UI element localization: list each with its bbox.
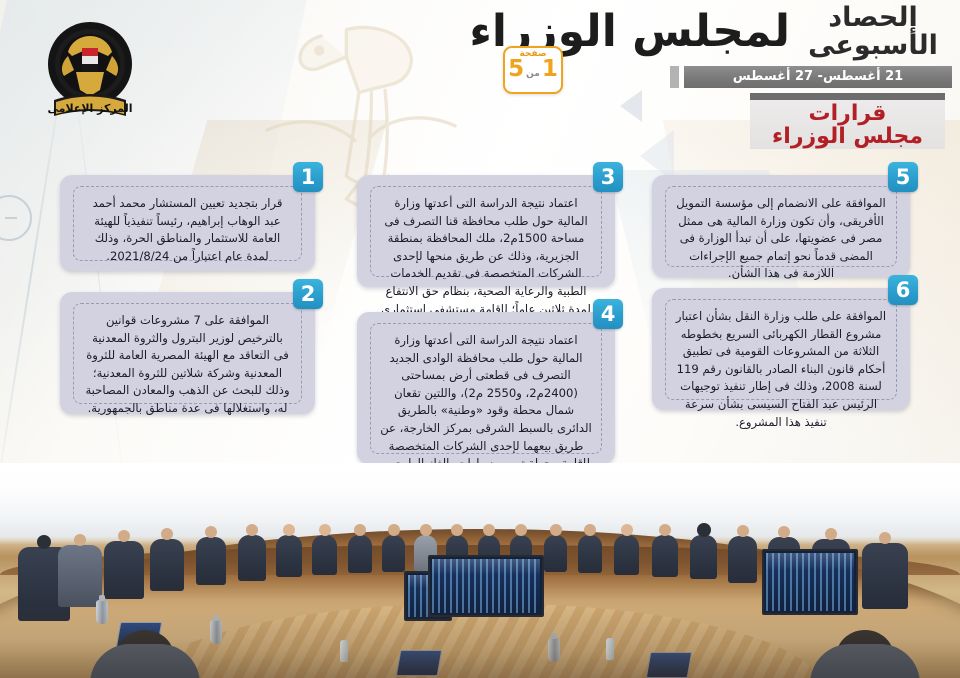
page-number-badge: صفحة 1 من 5 [503,46,563,94]
card-inner-frame: الموافقة على طلب وزارة النقل بشأن اعتبار… [665,299,897,400]
infographic-page: المركز الإعلامى لمجلس الوزراء صفحة 1 من … [0,0,960,678]
attendee [544,535,567,572]
decision-card: 4 اعتماد نتيجة الدراسة التى أعدتها وزارة… [357,312,615,464]
card-number-badge: 2 [293,279,323,309]
presentation-monitor [762,549,858,615]
attendee [196,537,226,585]
card-number-badge: 5 [888,162,918,192]
card-inner-frame: الموافقة على الانضمام إلى مؤسسة التمويل … [665,186,897,267]
attendee [690,535,717,579]
decision-card: 1 قرار بتجديد تعيين المستشار محمد أحمد ع… [60,175,315,271]
attendee [312,535,337,575]
card-text: قرار بتجديد تعيين المستشار محمد أحمد عبد… [83,195,292,265]
page-badge-total: 5 [508,58,524,81]
attendee [276,535,302,577]
attendee [652,535,678,577]
decision-card: 5 الموافقة على الانضمام إلى مؤسسة التموي… [652,175,910,277]
date-bar-cap [670,66,679,88]
attendee [728,536,757,583]
card-number-badge: 3 [593,162,623,192]
decision-card: 2 الموافقة على 7 مشروعات قوانين بالترخيص… [60,292,315,414]
egyptian-cabinet-media-center-logo: المركز الإعلامى [30,12,150,134]
page-badge-of: من [526,69,540,79]
card-number-badge: 1 [293,162,323,192]
card-text: الموافقة على 7 مشروعات قوانين بالترخيص ل… [83,312,292,418]
masthead-line-2: الأسبوعى [798,32,948,60]
background-ring-decoration [0,195,32,241]
attendee [578,535,602,573]
decision-card: 6 الموافقة على طلب وزارة النقل بشأن اعتب… [652,288,910,410]
section-heading-line-1: قرارات [750,102,945,125]
attendee [58,545,102,607]
decision-card: 3 اعتماد نتيجة الدراسة التى أعدتها وزارة… [357,175,615,287]
card-inner-frame: اعتماد نتيجة الدراسة التى أعدتها وزارة ا… [370,186,602,277]
attendee [862,543,908,609]
attendee [348,535,372,573]
attendee [238,535,266,581]
card-number-badge: 4 [593,299,623,329]
svg-text:المركز الإعلامى: المركز الإعلامى [48,102,133,115]
cabinet-meeting-photograph [0,463,960,678]
masthead-line-1: الحصاد [798,4,948,32]
attendee [150,539,184,591]
card-number-badge: 6 [888,275,918,305]
card-inner-frame: الموافقة على 7 مشروعات قوانين بالترخيص ل… [73,303,302,404]
card-text: الموافقة على الانضمام إلى مؤسسة التمويل … [675,195,887,283]
page-badge-current: 1 [542,58,558,81]
section-heading-line-2: مجلس الوزراء [750,125,945,148]
card-inner-frame: قرار بتجديد تعيين المستشار محمد أحمد عبد… [73,186,302,261]
page-header: المركز الإعلامى لمجلس الوزراء صفحة 1 من … [0,0,960,150]
section-heading-panel: قرارات مجلس الوزراء [750,93,945,149]
date-range-bar: 21 أغسطس- 27 أغسطس [684,66,952,88]
attendee [382,535,405,572]
attendee [104,541,144,599]
masthead: الحصاد الأسبوعى [798,4,948,60]
attendee [614,535,639,575]
card-text: الموافقة على طلب وزارة النقل بشأن اعتبار… [675,308,887,431]
card-inner-frame: اعتماد نتيجة الدراسة التى أعدتها وزارة ا… [370,323,602,454]
